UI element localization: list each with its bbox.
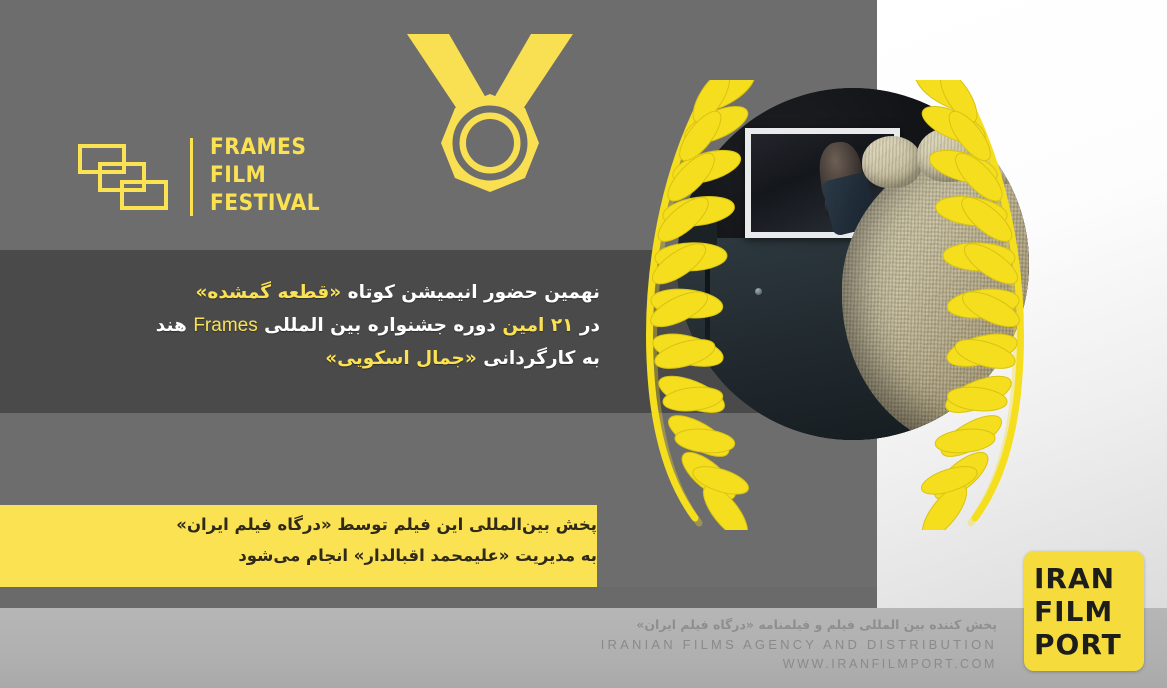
frame-rect-3 xyxy=(120,180,168,210)
footer-english-text: IRANIAN FILMS AGENCY AND DISTRIBUTION xyxy=(0,637,997,652)
award-poster: FRAMES FILM FESTIVAL نهمین حضور انیمیشن … xyxy=(0,0,1167,688)
headline-line-1-prefix: نهمین حضور انیمیشن کوتاه xyxy=(341,282,600,303)
brand-line-3: PORT xyxy=(1034,631,1122,659)
medal-icon xyxy=(405,28,575,228)
headline-text: نهمین حضور انیمیشن کوتاه «قطعه گمشده» در… xyxy=(80,276,600,375)
festival-name-latin: Frames xyxy=(193,309,257,342)
headline-line-3-prefix: به کارگردانی xyxy=(477,348,600,369)
distribution-line-2: به مدیریت «علیمحمد اقبالدار» انجام می‌شو… xyxy=(24,540,597,571)
footer-persian-text: پخش کننده بین المللی فیلم و فیلمنامه «در… xyxy=(0,617,997,632)
distribution-caption-text: پخش بین‌المللی این فیلم توسط «درگاه فیلم… xyxy=(24,509,597,571)
iran-film-port-logo[interactable]: IRAN FILM PORT xyxy=(1024,551,1144,671)
laurel-wreath-icon xyxy=(575,80,1095,530)
background-band-rule xyxy=(0,587,877,608)
headline-line-3: به کارگردانی «جمال اسکویی» xyxy=(80,342,600,375)
headline-line-2: در ۲۱ امین دوره جشنواره بین المللی Frame… xyxy=(80,309,600,342)
festival-logo-line-3: FESTIVAL xyxy=(210,190,320,218)
distribution-caption-box: پخش بین‌المللی این فیلم توسط «درگاه فیلم… xyxy=(0,505,597,587)
headline-line-2-suffix: هند xyxy=(156,315,194,336)
headline-line-2-middle: دوره جشنواره بین المللی xyxy=(258,315,503,336)
edition-number: ۲۱ امین xyxy=(502,315,573,336)
festival-logo-line-2: FILM xyxy=(210,162,320,190)
festival-logo-line-1: FRAMES xyxy=(210,134,320,162)
festival-logo-words: FRAMES FILM FESTIVAL xyxy=(210,134,330,218)
logo-divider xyxy=(190,138,193,216)
brand-line-2: FILM xyxy=(1034,598,1113,626)
frames-film-festival-logo: FRAMES FILM FESTIVAL xyxy=(78,136,308,226)
footer-website-url: WWW.IRANFILMPORT.COM xyxy=(0,657,997,671)
headline-line-1: نهمین حضور انیمیشن کوتاه «قطعه گمشده» xyxy=(80,276,600,309)
director-name: «جمال اسکویی» xyxy=(325,348,477,369)
headline-line-2-prefix: در xyxy=(573,315,600,336)
brand-line-1: IRAN xyxy=(1034,565,1115,593)
distribution-line-1: پخش بین‌المللی این فیلم توسط «درگاه فیلم… xyxy=(24,509,597,540)
film-title: «قطعه گمشده» xyxy=(195,282,341,303)
frames-marks-icon xyxy=(78,144,170,216)
